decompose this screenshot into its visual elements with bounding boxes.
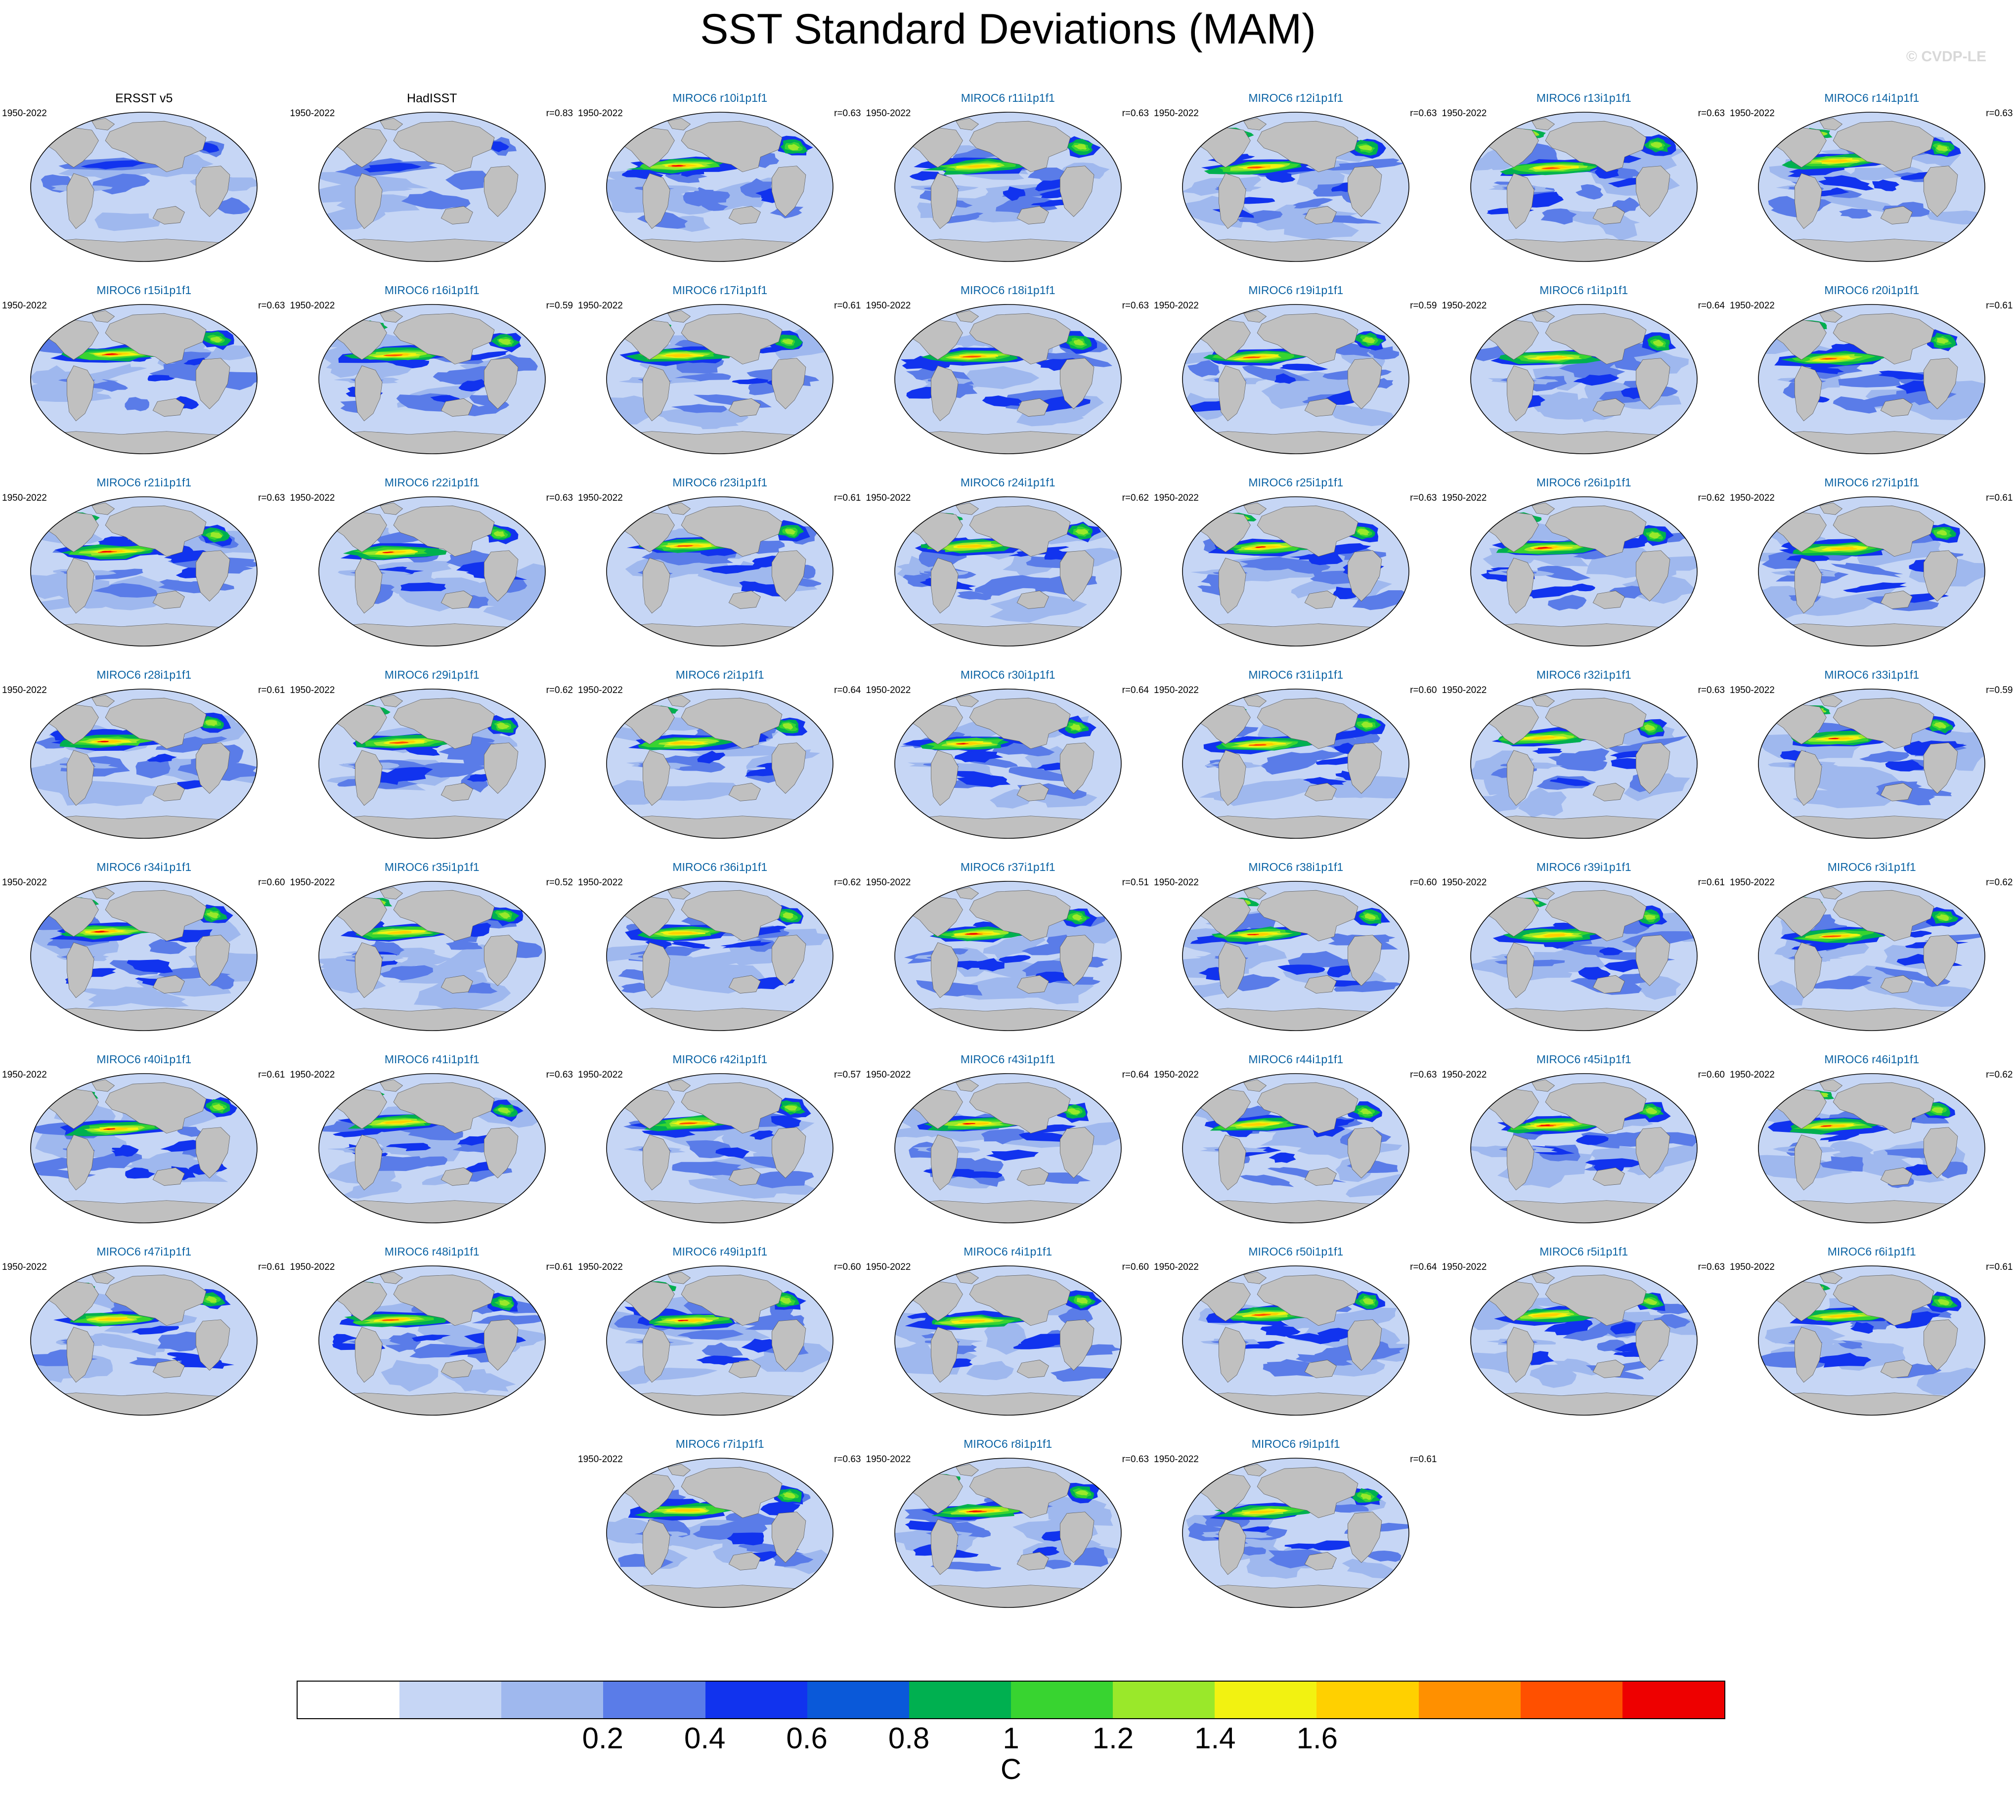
panel-correlation-value: r=0.63 <box>546 493 573 504</box>
panel-title: MIROC6 r25i1p1f1 <box>1152 476 1440 489</box>
panel-correlation-value: r=0.63 <box>258 301 285 311</box>
panel-title: MIROC6 r45i1p1f1 <box>1440 1053 1728 1066</box>
map-panel[interactable]: MIROC6 r41i1p1f11950-2022r=0.63 <box>288 1048 576 1240</box>
map-panel[interactable]: MIROC6 r1i1p1f11950-2022r=0.64 <box>1440 279 1728 471</box>
panel-title: MIROC6 r47i1p1f1 <box>0 1245 288 1258</box>
panel-correlation-value: r=0.62 <box>834 877 861 888</box>
map-panel[interactable]: MIROC6 r23i1p1f11950-2022r=0.61 <box>576 471 864 663</box>
colorbar: 0.20.40.60.811.21.41.6 C <box>297 1681 1725 1786</box>
map-panel[interactable]: MIROC6 r45i1p1f11950-2022r=0.60 <box>1440 1048 1728 1240</box>
panel-correlation-value: r=0.62 <box>1986 1070 2013 1081</box>
sst-stddev-map <box>1755 490 1988 653</box>
map-panel[interactable]: MIROC6 r31i1p1f11950-2022r=0.60 <box>1152 663 1440 856</box>
panel-title: MIROC6 r43i1p1f1 <box>864 1053 1152 1066</box>
colorbar-segment <box>807 1682 909 1718</box>
panel-title: MIROC6 r24i1p1f1 <box>864 476 1152 489</box>
panel-correlation-value: r=0.61 <box>258 1070 285 1081</box>
map-panel[interactable]: MIROC6 r32i1p1f11950-2022r=0.63 <box>1440 663 1728 856</box>
panel-title: MIROC6 r29i1p1f1 <box>288 668 576 682</box>
map-panel[interactable]: MIROC6 r46i1p1f11950-2022r=0.62 <box>1728 1048 2016 1240</box>
panel-title: MIROC6 r46i1p1f1 <box>1728 1053 2016 1066</box>
panel-title: MIROC6 r4i1p1f1 <box>864 1245 1152 1258</box>
sst-stddev-map <box>1755 298 1988 461</box>
panel-correlation-value: r=0.61 <box>1698 877 1725 888</box>
panel-title: MIROC6 r16i1p1f1 <box>288 284 576 297</box>
map-panel[interactable]: MIROC6 r49i1p1f11950-2022r=0.60 <box>576 1240 864 1432</box>
map-panel[interactable]: MIROC6 r28i1p1f11950-2022r=0.61 <box>0 663 288 856</box>
sst-stddev-map <box>604 1259 836 1422</box>
panel-row: MIROC6 r34i1p1f11950-2022r=0.60MIROC6 r3… <box>0 856 2016 1048</box>
panel-correlation-value: r=0.63 <box>1698 1262 1725 1273</box>
colorbar-segment <box>909 1682 1011 1718</box>
colorbar-segment <box>705 1682 807 1718</box>
sst-stddev-map <box>316 105 548 268</box>
sst-stddev-map <box>28 298 260 461</box>
panel-correlation-value: r=0.63 <box>1122 1454 1149 1465</box>
map-panel[interactable]: MIROC6 r47i1p1f11950-2022r=0.61 <box>0 1240 288 1432</box>
colorbar-tick-label: 0.8 <box>888 1721 929 1755</box>
sst-stddev-map <box>1180 682 1412 845</box>
sst-stddev-map <box>28 1067 260 1230</box>
panel-title: HadISST <box>288 91 576 106</box>
map-panel[interactable]: MIROC6 r33i1p1f11950-2022r=0.59 <box>1728 663 2016 856</box>
map-panel[interactable]: MIROC6 r30i1p1f11950-2022r=0.64 <box>864 663 1152 856</box>
sst-stddev-map <box>604 1451 836 1614</box>
map-panel[interactable]: MIROC6 r14i1p1f11950-2022r=0.63 <box>1728 87 2016 279</box>
map-panel[interactable]: MIROC6 r36i1p1f11950-2022r=0.62 <box>576 856 864 1048</box>
panel-correlation-value: r=0.60 <box>1410 685 1437 696</box>
panel-correlation-value: r=0.59 <box>546 301 573 311</box>
panel-correlation-value: r=0.60 <box>1122 1262 1149 1273</box>
map-panel[interactable]: MIROC6 r39i1p1f11950-2022r=0.61 <box>1440 856 1728 1048</box>
panel-title: MIROC6 r30i1p1f1 <box>864 668 1152 682</box>
sst-stddev-map <box>892 298 1124 461</box>
panel-correlation-value: r=0.63 <box>1410 1070 1437 1081</box>
panel-correlation-value: r=0.63 <box>1122 301 1149 311</box>
panel-row: ERSST v51950-2022HadISST1950-2022r=0.83M… <box>0 87 2016 279</box>
panel-title: MIROC6 r49i1p1f1 <box>576 1245 864 1258</box>
panel-correlation-value: r=0.61 <box>258 685 285 696</box>
colorbar-segment <box>298 1682 399 1718</box>
sst-stddev-map <box>316 1067 548 1230</box>
map-panel[interactable]: MIROC6 r43i1p1f11950-2022r=0.64 <box>864 1048 1152 1240</box>
panel-correlation-value: r=0.60 <box>1410 877 1437 888</box>
sst-stddev-map <box>1755 1067 1988 1230</box>
map-panel[interactable]: MIROC6 r34i1p1f11950-2022r=0.60 <box>0 856 288 1048</box>
panel-title: MIROC6 r35i1p1f1 <box>288 861 576 874</box>
sst-stddev-map <box>892 682 1124 845</box>
map-panel[interactable]: MIROC6 r50i1p1f11950-2022r=0.64 <box>1152 1240 1440 1432</box>
panel-correlation-value: r=0.63 <box>258 493 285 504</box>
panel-correlation-value: r=0.63 <box>1698 685 1725 696</box>
sst-stddev-map <box>604 682 836 845</box>
panel-title: MIROC6 r37i1p1f1 <box>864 861 1152 874</box>
panel-row: MIROC6 r7i1p1f11950-2022r=0.63MIROC6 r8i… <box>0 1432 2016 1625</box>
sst-stddev-map <box>1180 1067 1412 1230</box>
cvdp-watermark: © CVDP-LE <box>1906 48 1986 65</box>
sst-stddev-map <box>28 874 260 1038</box>
sst-stddev-map <box>1468 298 1700 461</box>
map-panel[interactable]: ERSST v51950-2022 <box>0 87 288 279</box>
panel-correlation-value: r=0.61 <box>1986 1262 2013 1273</box>
panel-title: MIROC6 r36i1p1f1 <box>576 861 864 874</box>
colorbar-segment <box>1113 1682 1215 1718</box>
sst-stddev-map <box>316 1259 548 1422</box>
panel-correlation-value: r=0.63 <box>834 1454 861 1465</box>
panel-title: MIROC6 r3i1p1f1 <box>1728 861 2016 874</box>
panel-title: MIROC6 r2i1p1f1 <box>576 668 864 682</box>
map-panel[interactable]: MIROC6 r12i1p1f11950-2022r=0.63 <box>1152 87 1440 279</box>
sst-stddev-map <box>1755 105 1988 268</box>
panel-correlation-value: r=0.60 <box>1698 1070 1725 1081</box>
map-panel[interactable]: MIROC6 r35i1p1f11950-2022r=0.52 <box>288 856 576 1048</box>
panel-correlation-value: r=0.61 <box>546 1262 573 1273</box>
panel-correlation-value: r=0.63 <box>546 1070 573 1081</box>
panel-correlation-value: r=0.61 <box>1986 493 2013 504</box>
map-panel[interactable]: MIROC6 r17i1p1f11950-2022r=0.61 <box>576 279 864 471</box>
map-panel[interactable]: MIROC6 r20i1p1f11950-2022r=0.61 <box>1728 279 2016 471</box>
panel-title: MIROC6 r9i1p1f1 <box>1152 1437 1440 1451</box>
panel-title: MIROC6 r15i1p1f1 <box>0 284 288 297</box>
sst-stddev-map <box>316 490 548 653</box>
map-panel[interactable]: MIROC6 r37i1p1f11950-2022r=0.51 <box>864 856 1152 1048</box>
page-title: SST Standard Deviations (MAM) <box>0 5 2016 54</box>
panel-correlation-value: r=0.64 <box>1410 1262 1437 1273</box>
panel-title: MIROC6 r19i1p1f1 <box>1152 284 1440 297</box>
sst-stddev-map <box>892 490 1124 653</box>
panel-correlation-value: r=0.57 <box>834 1070 861 1081</box>
panel-correlation-value: r=0.52 <box>546 877 573 888</box>
panel-row: MIROC6 r21i1p1f11950-2022r=0.63MIROC6 r2… <box>0 471 2016 663</box>
panel-title: MIROC6 r42i1p1f1 <box>576 1053 864 1066</box>
panel-correlation-value: r=0.59 <box>1410 301 1437 311</box>
map-panel[interactable]: MIROC6 r40i1p1f11950-2022r=0.61 <box>0 1048 288 1240</box>
colorbar-segment <box>1316 1682 1418 1718</box>
panel-title: MIROC6 r10i1p1f1 <box>576 91 864 105</box>
map-panel[interactable]: MIROC6 r44i1p1f11950-2022r=0.63 <box>1152 1048 1440 1240</box>
panel-title: MIROC6 r28i1p1f1 <box>0 668 288 682</box>
panel-correlation-value: r=0.61 <box>834 301 861 311</box>
map-panel[interactable]: MIROC6 r18i1p1f11950-2022r=0.63 <box>864 279 1152 471</box>
panel-correlation-value: r=0.62 <box>546 685 573 696</box>
map-panel[interactable]: MIROC6 r10i1p1f11950-2022r=0.63 <box>576 87 864 279</box>
panel-title: MIROC6 r13i1p1f1 <box>1440 91 1728 105</box>
sst-stddev-map <box>604 490 836 653</box>
colorbar-segment <box>1419 1682 1521 1718</box>
map-panel[interactable]: MIROC6 r22i1p1f11950-2022r=0.63 <box>288 471 576 663</box>
colorbar-unit-label: C <box>297 1753 1725 1786</box>
sst-stddev-map <box>1180 298 1412 461</box>
panel-correlation-value: r=0.60 <box>834 1262 861 1273</box>
panel-title: MIROC6 r26i1p1f1 <box>1440 476 1728 489</box>
map-panel[interactable]: MIROC6 r13i1p1f11950-2022r=0.63 <box>1440 87 1728 279</box>
colorbar-segment <box>1521 1682 1622 1718</box>
colorbar-tick-label: 1.6 <box>1297 1721 1338 1755</box>
map-panel[interactable]: MIROC6 r3i1p1f11950-2022r=0.62 <box>1728 856 2016 1048</box>
map-panel[interactable]: MIROC6 r7i1p1f11950-2022r=0.63 <box>576 1432 864 1625</box>
colorbar-segment <box>501 1682 603 1718</box>
colorbar-segment <box>1011 1682 1113 1718</box>
colorbar-tick-label: 1.2 <box>1093 1721 1134 1755</box>
panel-title: MIROC6 r44i1p1f1 <box>1152 1053 1440 1066</box>
panel-correlation-value: r=0.63 <box>1698 108 1725 119</box>
map-panel[interactable]: MIROC6 r26i1p1f11950-2022r=0.62 <box>1440 471 1728 663</box>
panel-title: MIROC6 r7i1p1f1 <box>576 1437 864 1451</box>
panel-correlation-value: r=0.64 <box>1122 1070 1149 1081</box>
sst-stddev-map <box>28 490 260 653</box>
panel-title: ERSST v5 <box>0 91 288 106</box>
map-panel[interactable]: MIROC6 r5i1p1f11950-2022r=0.63 <box>1440 1240 1728 1432</box>
panel-title: MIROC6 r32i1p1f1 <box>1440 668 1728 682</box>
panel-correlation-value: r=0.63 <box>1410 493 1437 504</box>
panel-correlation-value: r=0.64 <box>1122 685 1149 696</box>
map-panel[interactable]: MIROC6 r21i1p1f11950-2022r=0.63 <box>0 471 288 663</box>
sst-stddev-map <box>1468 1259 1700 1422</box>
panel-row: MIROC6 r47i1p1f11950-2022r=0.61MIROC6 r4… <box>0 1240 2016 1432</box>
sst-stddev-map <box>1180 490 1412 653</box>
panel-title: MIROC6 r34i1p1f1 <box>0 861 288 874</box>
sst-stddev-map <box>1468 105 1700 268</box>
panel-title: MIROC6 r50i1p1f1 <box>1152 1245 1440 1258</box>
panel-title: MIROC6 r38i1p1f1 <box>1152 861 1440 874</box>
sst-stddev-map <box>316 682 548 845</box>
sst-stddev-map <box>604 105 836 268</box>
colorbar-tick-label: 1 <box>1003 1721 1019 1755</box>
panel-correlation-value: r=0.63 <box>1122 108 1149 119</box>
panel-title: MIROC6 r21i1p1f1 <box>0 476 288 489</box>
map-panel[interactable]: MIROC6 r25i1p1f11950-2022r=0.63 <box>1152 471 1440 663</box>
sst-stddev-map <box>892 1067 1124 1230</box>
panel-correlation-value: r=0.51 <box>1122 877 1149 888</box>
panel-title: MIROC6 r23i1p1f1 <box>576 476 864 489</box>
colorbar-segment <box>603 1682 705 1718</box>
colorbar-segment <box>1215 1682 1316 1718</box>
map-panel[interactable]: MIROC6 r19i1p1f11950-2022r=0.59 <box>1152 279 1440 471</box>
sst-stddev-map <box>1180 1259 1412 1422</box>
map-panel[interactable]: MIROC6 r8i1p1f11950-2022r=0.63 <box>864 1432 1152 1625</box>
panel-correlation-value: r=0.63 <box>1986 108 2013 119</box>
panel-correlation-value: r=0.62 <box>1698 493 1725 504</box>
sst-stddev-map <box>892 1259 1124 1422</box>
panel-correlation-value: r=0.61 <box>258 1262 285 1273</box>
panel-title: MIROC6 r20i1p1f1 <box>1728 284 2016 297</box>
map-panel[interactable]: MIROC6 r27i1p1f11950-2022r=0.61 <box>1728 471 2016 663</box>
panel-correlation-value: r=0.59 <box>1986 685 2013 696</box>
colorbar-tick-label: 1.4 <box>1194 1721 1235 1755</box>
panel-correlation-value: r=0.63 <box>834 108 861 119</box>
map-panel[interactable]: MIROC6 r29i1p1f11950-2022r=0.62 <box>288 663 576 856</box>
sst-stddev-map <box>1468 1067 1700 1230</box>
panel-correlation-value: r=0.83 <box>546 108 573 119</box>
panel-title: MIROC6 r5i1p1f1 <box>1440 1245 1728 1258</box>
panel-grid: ERSST v51950-2022HadISST1950-2022r=0.83M… <box>0 87 2016 1625</box>
panel-correlation-value: r=0.61 <box>834 493 861 504</box>
sst-stddev-map <box>1755 682 1988 845</box>
panel-title: MIROC6 r31i1p1f1 <box>1152 668 1440 682</box>
map-panel[interactable]: MIROC6 r24i1p1f11950-2022r=0.62 <box>864 471 1152 663</box>
sst-stddev-map <box>1468 874 1700 1038</box>
map-panel[interactable]: MIROC6 r2i1p1f11950-2022r=0.64 <box>576 663 864 856</box>
sst-stddev-map <box>1755 874 1988 1038</box>
panel-title: MIROC6 r40i1p1f1 <box>0 1053 288 1066</box>
panel-title: MIROC6 r11i1p1f1 <box>864 91 1152 105</box>
sst-stddev-map <box>604 874 836 1038</box>
colorbar-ticks: 0.20.40.60.811.21.41.6 <box>297 1719 1725 1752</box>
panel-title: MIROC6 r8i1p1f1 <box>864 1437 1152 1451</box>
map-panel[interactable]: MIROC6 r4i1p1f11950-2022r=0.60 <box>864 1240 1152 1432</box>
map-panel[interactable]: MIROC6 r16i1p1f11950-2022r=0.59 <box>288 279 576 471</box>
map-panel[interactable]: MIROC6 r38i1p1f11950-2022r=0.60 <box>1152 856 1440 1048</box>
colorbar-segment <box>1622 1682 1724 1718</box>
colorbar-tick-label: 0.4 <box>684 1721 725 1755</box>
colorbar-tick-label: 0.6 <box>786 1721 827 1755</box>
sst-stddev-map <box>1755 1259 1988 1422</box>
map-panel[interactable]: MIROC6 r48i1p1f11950-2022r=0.61 <box>288 1240 576 1432</box>
sst-stddev-map <box>316 874 548 1038</box>
sst-stddev-map <box>28 1259 260 1422</box>
panel-title: MIROC6 r1i1p1f1 <box>1440 284 1728 297</box>
panel-row: MIROC6 r40i1p1f11950-2022r=0.61MIROC6 r4… <box>0 1048 2016 1240</box>
panel-row: MIROC6 r28i1p1f11950-2022r=0.61MIROC6 r2… <box>0 663 2016 856</box>
panel-correlation-value: r=0.61 <box>1410 1454 1437 1465</box>
map-panel[interactable]: MIROC6 r11i1p1f11950-2022r=0.63 <box>864 87 1152 279</box>
panel-row: MIROC6 r15i1p1f11950-2022r=0.63MIROC6 r1… <box>0 279 2016 471</box>
sst-stddev-map <box>892 1451 1124 1614</box>
colorbar-segment <box>399 1682 501 1718</box>
panel-title: MIROC6 r48i1p1f1 <box>288 1245 576 1258</box>
map-panel[interactable]: MIROC6 r9i1p1f11950-2022r=0.61 <box>1152 1432 1440 1625</box>
sst-stddev-map <box>604 298 836 461</box>
panel-title: MIROC6 r6i1p1f1 <box>1728 1245 2016 1258</box>
panel-correlation-value: r=0.63 <box>1410 108 1437 119</box>
panel-title: MIROC6 r22i1p1f1 <box>288 476 576 489</box>
sst-stddev-map <box>1180 105 1412 268</box>
panel-title: MIROC6 r18i1p1f1 <box>864 284 1152 297</box>
panel-correlation-value: r=0.62 <box>1122 493 1149 504</box>
panel-title: MIROC6 r12i1p1f1 <box>1152 91 1440 105</box>
sst-stddev-map <box>28 682 260 845</box>
panel-title: MIROC6 r14i1p1f1 <box>1728 91 2016 105</box>
colorbar-tick-label: 0.2 <box>582 1721 623 1755</box>
panel-correlation-value: r=0.60 <box>258 877 285 888</box>
panel-title: MIROC6 r39i1p1f1 <box>1440 861 1728 874</box>
panel-correlation-value: r=0.64 <box>1698 301 1725 311</box>
panel-correlation-value: r=0.61 <box>1986 301 2013 311</box>
sst-stddev-map <box>316 298 548 461</box>
sst-stddev-map <box>1468 490 1700 653</box>
map-panel[interactable]: MIROC6 r42i1p1f11950-2022r=0.57 <box>576 1048 864 1240</box>
sst-stddev-map <box>892 105 1124 268</box>
sst-stddev-map <box>892 874 1124 1038</box>
sst-stddev-map <box>1468 682 1700 845</box>
sst-stddev-map <box>604 1067 836 1230</box>
panel-title: MIROC6 r17i1p1f1 <box>576 284 864 297</box>
panel-correlation-value: r=0.62 <box>1986 877 2013 888</box>
sst-stddev-map <box>1180 1451 1412 1614</box>
colorbar-strip <box>297 1681 1725 1719</box>
map-panel[interactable]: HadISST1950-2022r=0.83 <box>288 87 576 279</box>
map-panel[interactable]: MIROC6 r15i1p1f11950-2022r=0.63 <box>0 279 288 471</box>
map-panel[interactable]: MIROC6 r6i1p1f11950-2022r=0.61 <box>1728 1240 2016 1432</box>
panel-correlation-value: r=0.64 <box>834 685 861 696</box>
panel-title: MIROC6 r33i1p1f1 <box>1728 668 2016 682</box>
panel-title: MIROC6 r41i1p1f1 <box>288 1053 576 1066</box>
sst-stddev-map <box>1180 874 1412 1038</box>
panel-title: MIROC6 r27i1p1f1 <box>1728 476 2016 489</box>
sst-stddev-map <box>28 105 260 268</box>
